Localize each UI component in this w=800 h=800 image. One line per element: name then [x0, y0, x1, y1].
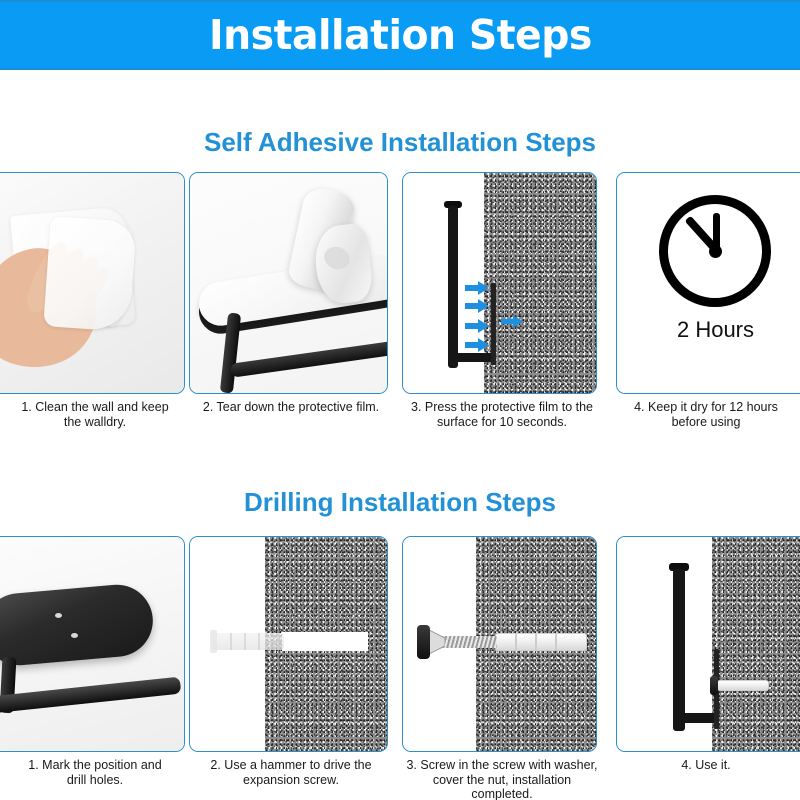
- illustration-drive-expansion-screw: [190, 537, 387, 751]
- header-bar: Installation Steps: [0, 0, 800, 70]
- screw-countersink: [429, 630, 445, 659]
- holder-vertical-post: [673, 569, 685, 731]
- illustration-hand-wiping-wall: [0, 173, 184, 393]
- wall-anchor: [212, 633, 284, 650]
- textured-wall: [712, 537, 800, 751]
- press-arrow-3: [465, 319, 489, 333]
- caption-adhesive-2: 2. Tear down the protective film.: [193, 400, 389, 415]
- step-panel-drilling-1: [0, 536, 185, 752]
- cloth-over-hand: [43, 216, 136, 332]
- screw-washer-cap: [417, 625, 430, 659]
- drilled-hole: [282, 632, 368, 651]
- holder-mounting-plate: [491, 283, 496, 365]
- caption-adhesive-3: 3. Press the protective film to the surf…: [402, 400, 602, 429]
- wall-anchor-in-wall: [495, 633, 587, 651]
- screw-shank: [439, 636, 497, 648]
- step-panel-adhesive-2: [189, 172, 388, 394]
- caption-drilling-1: 1. Mark the position and drill holes.: [0, 758, 190, 787]
- anchor-rib-2: [535, 633, 537, 651]
- drill-hole-marker-1: [55, 613, 62, 618]
- illustration-clock-two-hours: 2 Hours: [617, 173, 800, 393]
- section-heading-self-adhesive: Self Adhesive Installation Steps: [0, 127, 800, 158]
- press-arrow-1: [465, 281, 489, 295]
- section-heading-drilling: Drilling Installation Steps: [0, 487, 800, 518]
- caption-drilling-3: 3. Screw in the screw with washer, cover…: [402, 758, 602, 800]
- installation-steps-infographic: Installation Steps Self Adhesive Install…: [0, 0, 800, 800]
- anchor-rib-2: [244, 633, 246, 650]
- clock-center-hub: [709, 245, 722, 258]
- press-arrow-4: [465, 338, 489, 352]
- illustration-mounted-holder: [617, 537, 800, 751]
- anchor-collar: [210, 630, 217, 653]
- anchor-rib-3: [555, 633, 557, 651]
- step-panel-adhesive-1: [0, 172, 185, 394]
- illustration-peel-protective-film: [190, 173, 387, 393]
- caption-adhesive-4: 4. Keep it dry for 12 hours before using: [612, 400, 800, 429]
- press-arrow-to-wall: [501, 315, 523, 328]
- press-arrow-2: [465, 299, 489, 313]
- textured-wall: [484, 173, 596, 393]
- step-panel-drilling-3: [402, 536, 597, 752]
- illustration-press-to-wall: [403, 173, 596, 393]
- step-panel-drilling-4: [616, 536, 800, 752]
- anchor-rib-3: [258, 633, 260, 650]
- step-panel-adhesive-4: 2 Hours: [616, 172, 800, 394]
- holder-bottom-arm: [448, 353, 496, 362]
- anchor-rib-1: [515, 633, 517, 651]
- self-adhesive-steps-row: 2 Hours: [0, 172, 800, 394]
- holder-vertical-post: [448, 206, 458, 368]
- drill-hole-marker-2: [71, 633, 78, 638]
- anchor-rib-1: [230, 633, 232, 650]
- caption-drilling-2: 2. Use a hammer to drive the expansion s…: [193, 758, 389, 787]
- step-panel-adhesive-3: [402, 172, 597, 394]
- holder-bottom-arm: [673, 713, 719, 723]
- caption-drilling-4: 4. Use it.: [612, 758, 800, 773]
- installed-screw-cap: [710, 676, 718, 695]
- installed-anchor: [717, 680, 769, 691]
- page-title: Installation Steps: [209, 11, 592, 59]
- drilling-steps-row: [0, 536, 800, 752]
- caption-adhesive-1: 1. Clean the wall and keep the walldry.: [0, 400, 190, 429]
- step-panel-drilling-2: [189, 536, 388, 752]
- illustration-mark-drill-holes: [0, 537, 184, 751]
- illustration-screw-with-washer: [403, 537, 596, 751]
- clock-duration-label: 2 Hours: [617, 317, 800, 343]
